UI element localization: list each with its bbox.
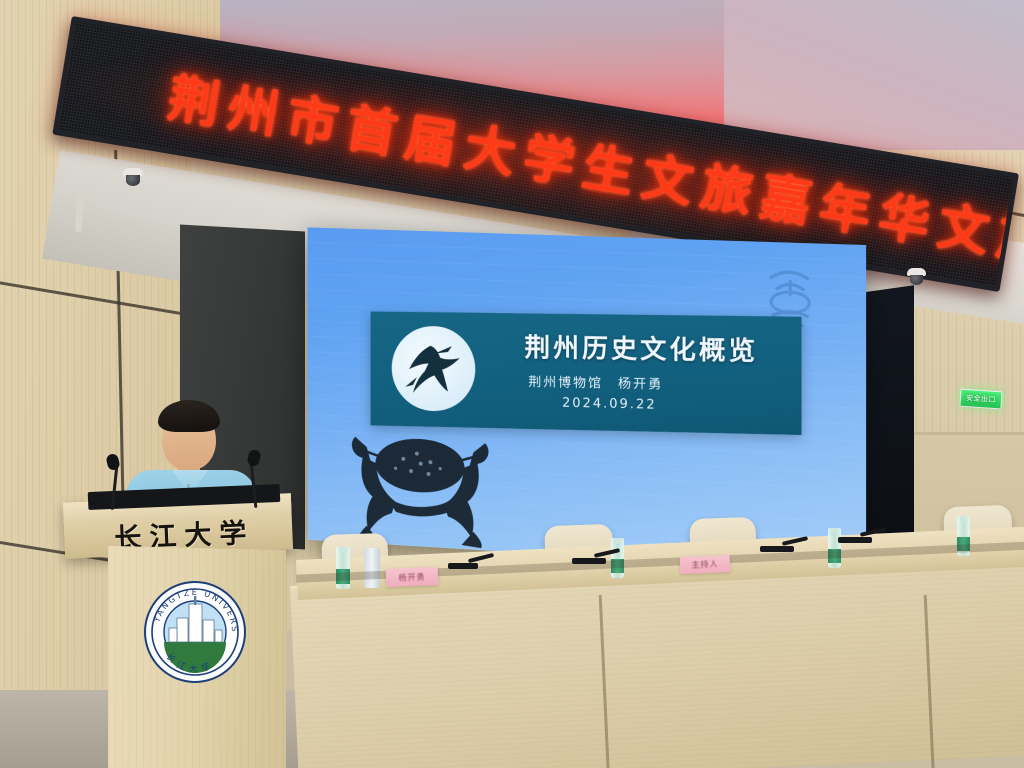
- security-camera-icon-left: [123, 168, 143, 186]
- thermos-flask: [364, 548, 380, 588]
- podium-microphone-left: [104, 452, 122, 508]
- slide-moon-emblem: [392, 326, 476, 412]
- phoenix-silhouette-icon: [392, 326, 476, 412]
- slide-subtitle: 荆州博物馆 杨开勇: [528, 371, 663, 392]
- name-placard-left: 杨开勇: [386, 567, 439, 587]
- projection-screen: 荆州历史文化概览 荆州博物馆 杨开勇 2024.09.22: [308, 227, 867, 573]
- yangtze-university-emblem-icon: YANGTZE UNIVERSITY 长江大学: [143, 580, 247, 684]
- emergency-exit-sign: 安全出口: [959, 389, 1002, 410]
- chu-drum-artifact-icon: [328, 420, 512, 550]
- desk-microphone-3: [760, 536, 808, 552]
- podium-microphone-right: [246, 448, 264, 506]
- name-placard-right-text: 主持人: [691, 558, 718, 570]
- slide-title: 荆州历史文化概览: [524, 327, 758, 368]
- desk-microphone-1: [448, 553, 492, 569]
- lecture-hall-photo: 荆州市首届大学生文旅嘉年华文旅进高校活动: [0, 0, 1024, 768]
- desk-microphone-4: [838, 527, 886, 543]
- desk-microphone-2: [572, 548, 620, 564]
- slide-title-card: 荆州历史文化概览 荆州博物馆 杨开勇 2024.09.22: [371, 312, 802, 435]
- name-placard-left-text: 杨开勇: [398, 571, 425, 583]
- emergency-exit-sign-text: 安全出口: [966, 393, 997, 405]
- security-camera-icon-right: [907, 268, 926, 285]
- speaker-hair: [158, 400, 220, 432]
- water-bottle-1: [336, 547, 350, 589]
- slide-date: 2024.09.22: [562, 396, 657, 413]
- name-placard-right: 主持人: [680, 555, 731, 574]
